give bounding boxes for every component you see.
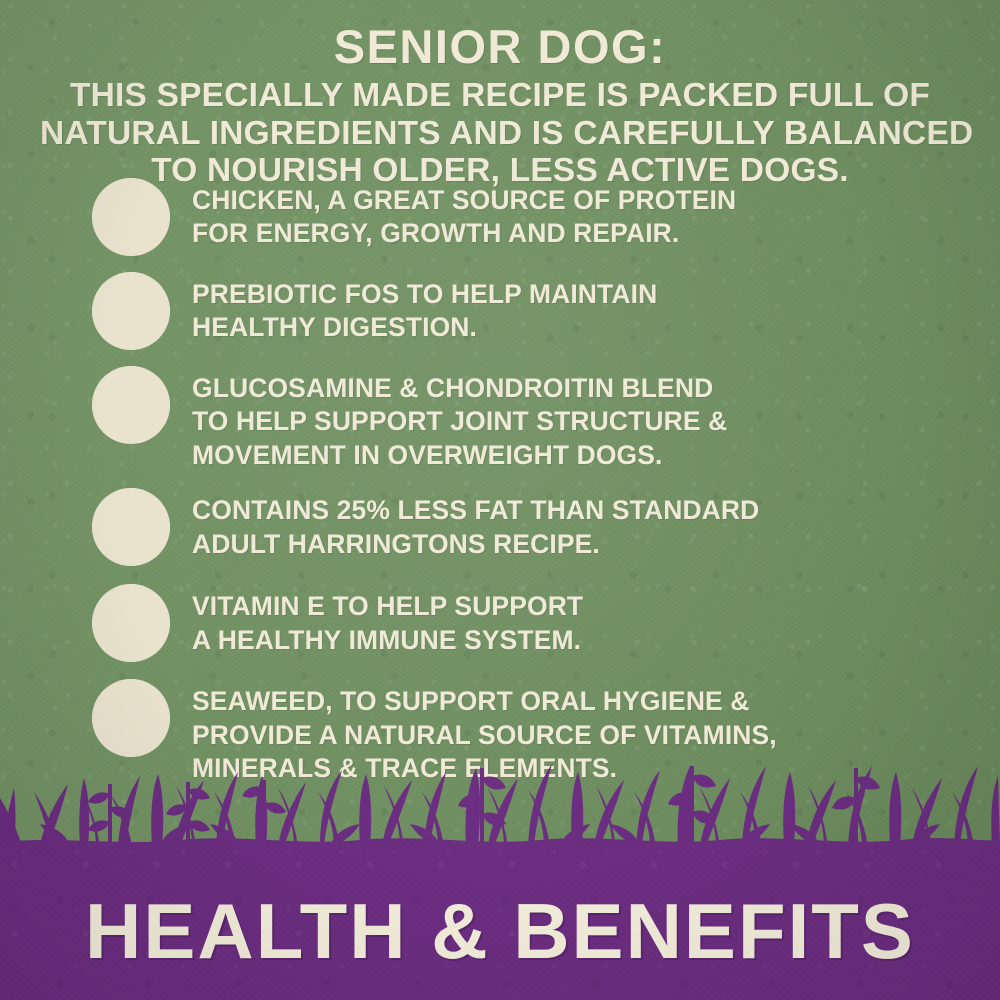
seaweed-icon: [92, 679, 170, 757]
header-subtitle: THIS SPECIALLY MADE RECIPE IS PACKED FUL…: [40, 77, 960, 190]
benefit-line: VITAMIN E TO HELP SUPPORT: [192, 590, 930, 623]
shield-cross-icon: [92, 584, 170, 662]
banner-title: HEALTH & BENEFITS: [0, 892, 1000, 970]
benefit-item-glucosamine: GLUCOSAMINE & CHONDROITIN BLEND TO HELP …: [92, 366, 930, 472]
benefit-line: MOVEMENT IN OVERWEIGHT DOGS.: [192, 439, 930, 472]
benefit-text-prebiotic: PREBIOTIC FOS TO HELP MAINTAIN HEALTHY D…: [192, 272, 930, 345]
benefit-line: FOR ENERGY, GROWTH AND REPAIR.: [192, 217, 930, 250]
joint-bone-icon: [92, 366, 170, 444]
benefit-item-prebiotic: PREBIOTIC FOS TO HELP MAINTAIN HEALTHY D…: [92, 272, 930, 350]
benefit-text-glucosamine: GLUCOSAMINE & CHONDROITIN BLEND TO HELP …: [192, 366, 930, 472]
benefit-line: GLUCOSAMINE & CHONDROITIN BLEND: [192, 372, 930, 405]
subtitle-line-1: THIS SPECIALLY MADE RECIPE IS PACKED FUL…: [40, 77, 960, 115]
subtitle-line-2: NATURAL INGREDIENTS AND IS CAREFULLY BAL…: [40, 115, 960, 153]
benefit-item-vitamin-e: VITAMIN E TO HELP SUPPORT A HEALTHY IMMU…: [92, 584, 930, 662]
probiotic-bacteria-icon: [92, 272, 170, 350]
benefit-item-chicken: CHICKEN, A GREAT SOURCE OF PROTEIN FOR E…: [92, 178, 930, 256]
benefit-line: CONTAINS 25% LESS FAT THAN STANDARD: [192, 494, 930, 527]
benefit-line: ADULT HARRINGTONS RECIPE.: [192, 528, 930, 561]
benefit-line: TO HELP SUPPORT JOINT STRUCTURE &: [192, 405, 930, 438]
page-title: SENIOR DOG:: [40, 22, 960, 71]
benefit-text-chicken: CHICKEN, A GREAT SOURCE OF PROTEIN FOR E…: [192, 178, 930, 251]
product-benefits-poster: SENIOR DOG: THIS SPECIALLY MADE RECIPE I…: [0, 0, 1000, 1000]
benefit-line: HEALTHY DIGESTION.: [192, 311, 930, 344]
bottom-banner: HEALTH & BENEFITS: [0, 750, 1000, 1000]
benefits-list: CHICKEN, A GREAT SOURCE OF PROTEIN FOR E…: [92, 178, 930, 785]
chicken-drumstick-icon: [92, 178, 170, 256]
benefit-item-less-fat: CONTAINS 25% LESS FAT THAN STANDARD ADUL…: [92, 488, 930, 566]
benefit-text-vitamin-e: VITAMIN E TO HELP SUPPORT A HEALTHY IMMU…: [192, 584, 930, 657]
benefit-text-less-fat: CONTAINS 25% LESS FAT THAN STANDARD ADUL…: [192, 488, 930, 561]
benefit-line: PREBIOTIC FOS TO HELP MAINTAIN: [192, 278, 930, 311]
benefit-line: PROVIDE A NATURAL SOURCE OF VITAMINS,: [192, 719, 930, 752]
header-block: SENIOR DOG: THIS SPECIALLY MADE RECIPE I…: [40, 22, 960, 190]
percent-icon: [92, 488, 170, 566]
benefit-line: SEAWEED, TO SUPPORT ORAL HYGIENE &: [192, 685, 930, 718]
benefit-line: A HEALTHY IMMUNE SYSTEM.: [192, 624, 930, 657]
benefit-line: CHICKEN, A GREAT SOURCE OF PROTEIN: [192, 184, 930, 217]
